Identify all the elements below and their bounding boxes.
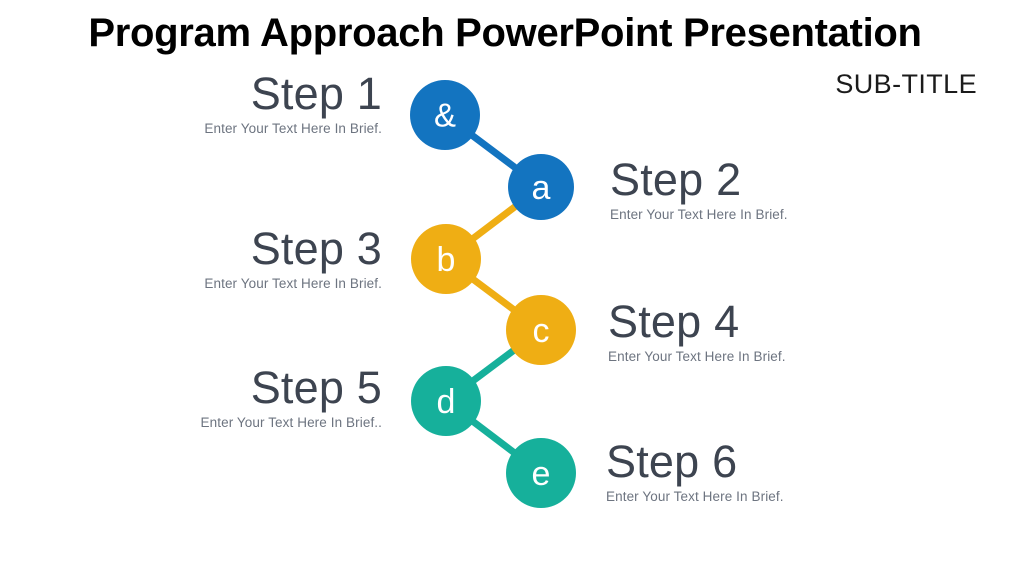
step-title-5: Step 5 xyxy=(201,363,382,413)
step-block-1: Step 1 Enter Your Text Here In Brief. xyxy=(204,69,382,138)
node-n5[interactable]: d xyxy=(411,366,481,436)
node-n3[interactable]: b xyxy=(411,224,481,294)
node-label-d: d xyxy=(437,383,456,421)
step-title-6: Step 6 xyxy=(606,437,784,487)
node-n6[interactable]: e xyxy=(506,438,576,508)
node-label-c: c xyxy=(533,312,550,350)
step-title-3: Step 3 xyxy=(204,224,382,274)
node-n2[interactable]: a xyxy=(508,154,574,220)
step-title-1: Step 1 xyxy=(204,69,382,119)
node-n4[interactable]: c xyxy=(506,295,576,365)
step-desc-5: Enter Your Text Here In Brief.. xyxy=(201,414,382,432)
step-desc-1: Enter Your Text Here In Brief. xyxy=(204,120,382,138)
node-label-e: e xyxy=(532,455,551,493)
process-chain-diagram: & a b c d e xyxy=(0,0,1024,576)
node-label-b: b xyxy=(437,241,456,279)
node-label-amp: & xyxy=(434,97,456,134)
step-block-6: Step 6 Enter Your Text Here In Brief. xyxy=(606,437,784,506)
node-n1[interactable]: & xyxy=(410,80,480,150)
step-block-4: Step 4 Enter Your Text Here In Brief. xyxy=(608,297,786,366)
step-block-2: Step 2 Enter Your Text Here In Brief. xyxy=(610,155,788,224)
node-label-a: a xyxy=(532,169,551,207)
step-block-5: Step 5 Enter Your Text Here In Brief.. xyxy=(201,363,382,432)
step-desc-4: Enter Your Text Here In Brief. xyxy=(608,348,786,366)
step-title-4: Step 4 xyxy=(608,297,786,347)
step-desc-6: Enter Your Text Here In Brief. xyxy=(606,488,784,506)
step-desc-3: Enter Your Text Here In Brief. xyxy=(204,275,382,293)
step-title-2: Step 2 xyxy=(610,155,788,205)
step-desc-2: Enter Your Text Here In Brief. xyxy=(610,206,788,224)
step-block-3: Step 3 Enter Your Text Here In Brief. xyxy=(204,224,382,293)
presentation-slide: Program Approach PowerPoint Presentation… xyxy=(0,0,1024,576)
